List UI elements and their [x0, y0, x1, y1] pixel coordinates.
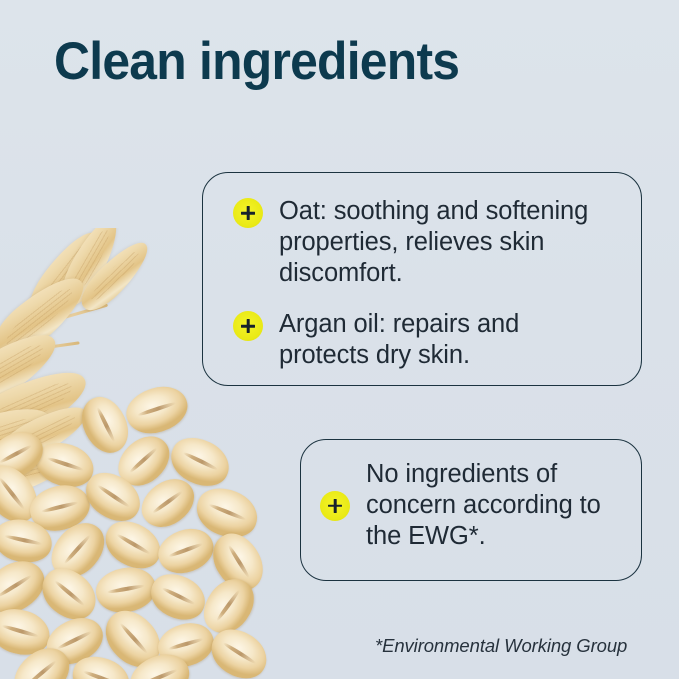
bullet-oat: Oat: soothing and softening properties, … [233, 196, 615, 289]
bullet-ewg: No ingredients of concern according to t… [320, 459, 630, 552]
plus-icon [233, 198, 263, 228]
footnote: *Environmental Working Group [375, 634, 627, 658]
ingredients-card: Oat: soothing and softening properties, … [202, 172, 642, 386]
bullet-oat-text: Oat: soothing and softening properties, … [279, 196, 615, 289]
product-ingredients-infographic: Clean ingredients Oat: soothing and soft… [0, 0, 679, 679]
plus-icon [320, 491, 350, 521]
bullet-argan-oil: Argan oil: repairs and protects dry skin… [233, 309, 615, 371]
ewg-card: No ingredients of concern according to t… [300, 439, 642, 581]
bullet-ewg-text: No ingredients of concern according to t… [366, 459, 630, 552]
bullet-argan-oil-text: Argan oil: repairs and protects dry skin… [279, 309, 615, 371]
plus-icon [233, 311, 263, 341]
page-title: Clean ingredients [54, 33, 459, 91]
